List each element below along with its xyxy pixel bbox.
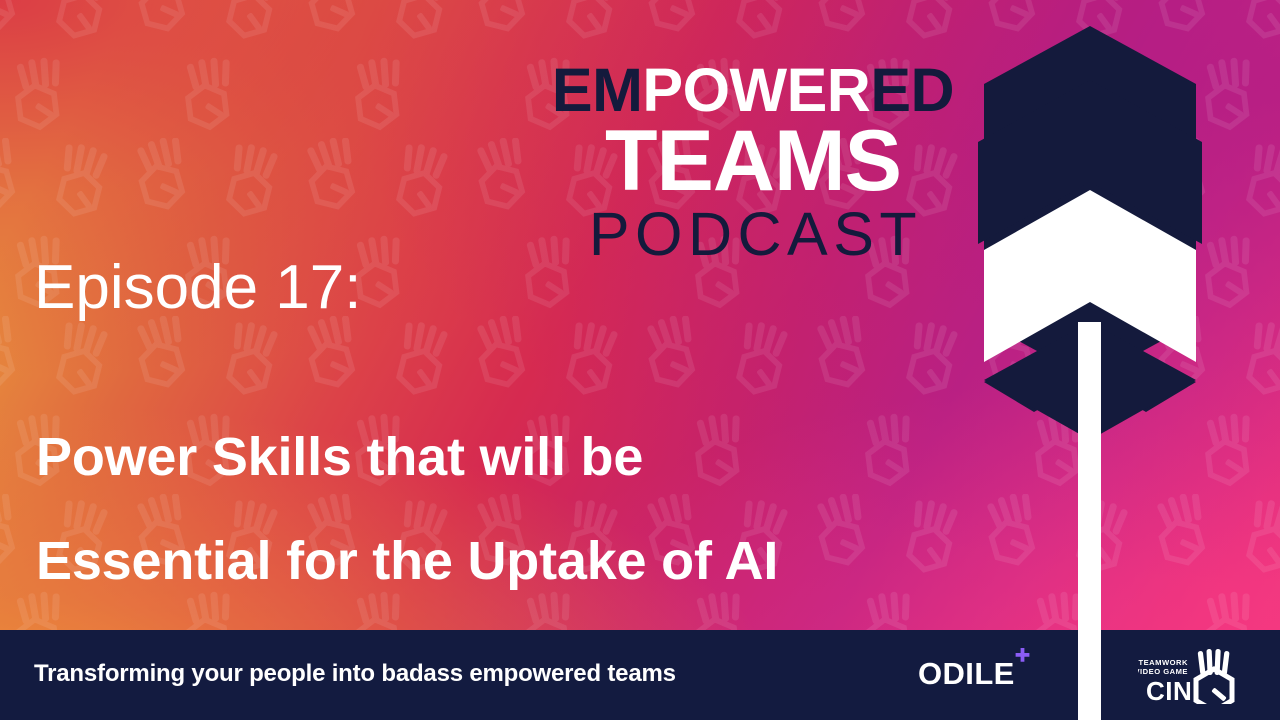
odile-wordmark: ODILE [918, 658, 1015, 689]
episode-number-label: Episode 17: [34, 252, 361, 323]
cinq-logo: TEAMWORK VIDEO GAME CIN [1138, 648, 1250, 704]
episode-title-line-1: Power Skills that will be [36, 405, 1036, 509]
podcast-title-card: EMPOWERED TEAMS PODCAST Episode 17: Powe… [0, 0, 1280, 720]
hex-q-icon [1196, 669, 1232, 704]
wordmark-line-empowered: EMPOWERED [528, 62, 978, 119]
episode-title: Power Skills that will be Essential for … [36, 405, 1036, 613]
footer-bar: Transforming your people into badass emp… [0, 630, 1280, 720]
footer-tagline: Transforming your people into badass emp… [34, 660, 676, 688]
chevron-arrow-logo [978, 22, 1202, 720]
cinq-wordmark: CIN [1146, 676, 1192, 704]
odile-logo: ODILE [918, 658, 1032, 689]
wordmark-line-teams: TEAMS [528, 121, 978, 202]
wordmark-line-podcast: PODCAST [528, 206, 978, 263]
podcast-wordmark: EMPOWERED TEAMS PODCAST [528, 62, 978, 263]
cinq-tagline-line-1: TEAMWORK [1138, 658, 1188, 667]
plus-icon [1014, 648, 1031, 665]
episode-title-line-2: Essential for the Uptake of AI [36, 509, 1036, 613]
cinq-tagline-line-2: VIDEO GAME [1138, 667, 1188, 676]
chevron-logo-stem [1078, 630, 1101, 720]
